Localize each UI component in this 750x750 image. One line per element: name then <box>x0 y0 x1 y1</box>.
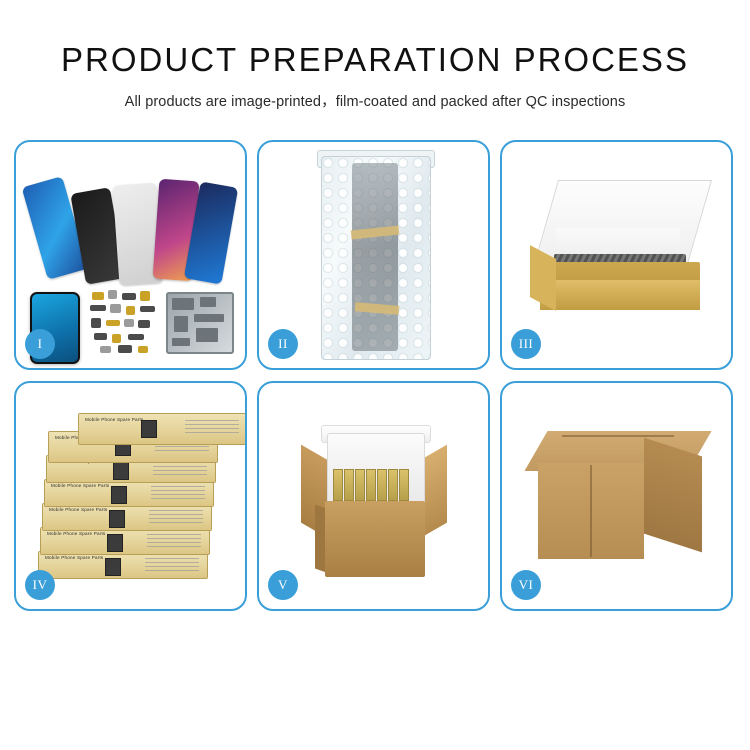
step-card-1: I <box>14 140 247 370</box>
spare-parts-cluster <box>88 290 162 356</box>
step-badge-4: IV <box>25 570 55 600</box>
retail-box: Mobile Phone Spare Parts <box>40 527 210 555</box>
retail-box-label: Mobile Phone Spare Parts <box>51 483 109 488</box>
retail-box-label: Mobile Phone Spare Parts <box>45 555 103 560</box>
steps-grid: I II III <box>14 140 736 611</box>
step-badge-6: VI <box>511 570 541 600</box>
bubble-wrap-bag <box>321 156 431 360</box>
step-badge-1: I <box>25 329 55 359</box>
logic-board <box>166 292 234 354</box>
page-subtitle: All products are image-printed，film-coat… <box>0 90 750 111</box>
retail-box-label: Mobile Phone Spare Parts <box>49 507 107 512</box>
step-card-3: III <box>500 140 733 370</box>
step-4-illustration: Mobile Phone Spare Parts Mobile Phone Sp… <box>24 401 242 601</box>
header: PRODUCT PREPARATION PROCESS All products… <box>0 0 750 111</box>
step-badge-3: III <box>511 329 541 359</box>
retail-box-label: Mobile Phone Spare Parts <box>85 417 143 422</box>
packed-items <box>333 469 417 503</box>
retail-box: Mobile Phone Spare Parts <box>38 551 208 579</box>
step-card-2: II <box>257 140 490 370</box>
step-card-5: V <box>257 381 490 611</box>
kraft-box-front <box>540 280 700 310</box>
step-card-4: Mobile Phone Spare Parts Mobile Phone Sp… <box>14 381 247 611</box>
retail-box: Mobile Phone Spare Parts <box>78 413 247 445</box>
carton-right-side <box>644 438 702 553</box>
retail-box: Mobile Phone Spare Parts <box>42 503 212 531</box>
step-badge-2: II <box>268 329 298 359</box>
carton-seam-front <box>590 465 592 557</box>
step-badge-5: V <box>268 570 298 600</box>
carton-seam-top <box>561 435 674 437</box>
product-preparation-infographic: PRODUCT PREPARATION PROCESS All products… <box>0 0 750 750</box>
carton-body <box>325 501 425 577</box>
page-title: PRODUCT PREPARATION PROCESS <box>0 40 750 80</box>
wrapped-part <box>352 163 398 351</box>
step-card-6: VI <box>500 381 733 611</box>
retail-box-label: Mobile Phone Spare Parts <box>47 531 105 536</box>
retail-box: Mobile Phone Spare Parts <box>44 479 214 507</box>
